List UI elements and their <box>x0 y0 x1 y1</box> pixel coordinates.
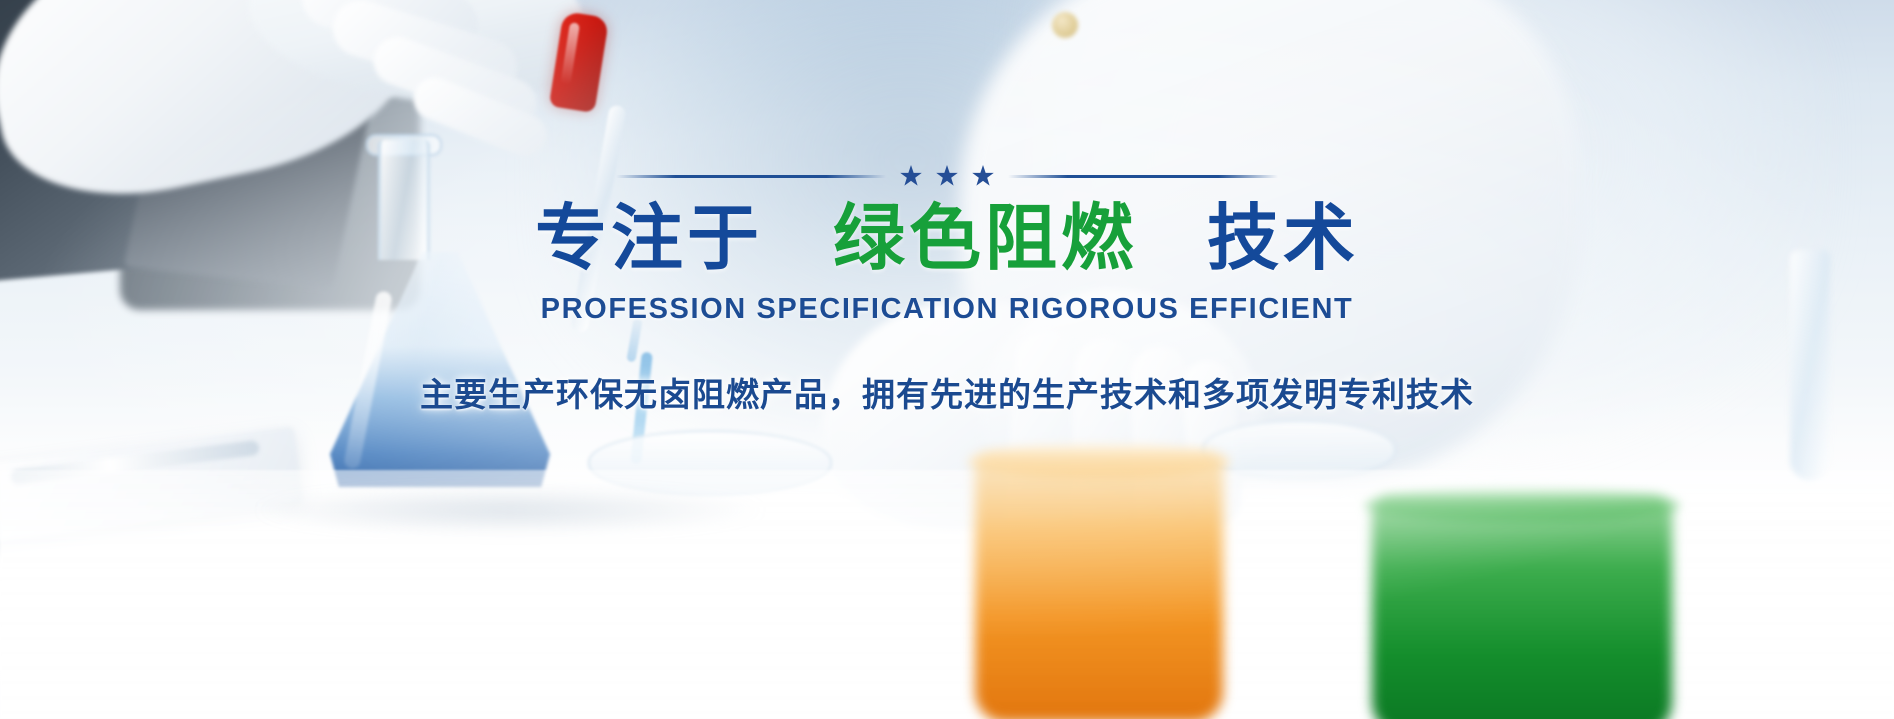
divider-rule-left <box>616 175 886 178</box>
headline: 专注于 绿色阻燃 技术 <box>0 201 1894 277</box>
hero-banner: 专注于 绿色阻燃 技术 PROFESSION SPECIFICATION RIG… <box>0 0 1894 719</box>
tagline: 主要生产环保无卤阻燃产品，拥有先进的生产技术和多项发明专利技术 <box>0 368 1894 416</box>
green-beaker <box>1372 496 1672 719</box>
headline-part-2: 绿色阻燃 <box>833 199 1137 279</box>
english-subtitle: PROFESSION SPECIFICATION RIGOROUS EFFICI… <box>0 293 1894 326</box>
banner-content: 专注于 绿色阻燃 技术 PROFESSION SPECIFICATION RIG… <box>0 165 1894 416</box>
star-icon <box>900 165 922 187</box>
bench-shadow <box>250 486 770 534</box>
orange-beaker <box>975 452 1223 719</box>
star-group <box>900 165 994 187</box>
divider-rule-right <box>1008 175 1278 178</box>
star-icon <box>936 165 958 187</box>
star-icon <box>972 165 994 187</box>
headline-part-3: 技术 <box>1207 199 1359 279</box>
lab-coat-button <box>1052 12 1078 38</box>
decorative-divider <box>0 165 1894 187</box>
headline-part-1: 专注于 <box>535 199 763 279</box>
